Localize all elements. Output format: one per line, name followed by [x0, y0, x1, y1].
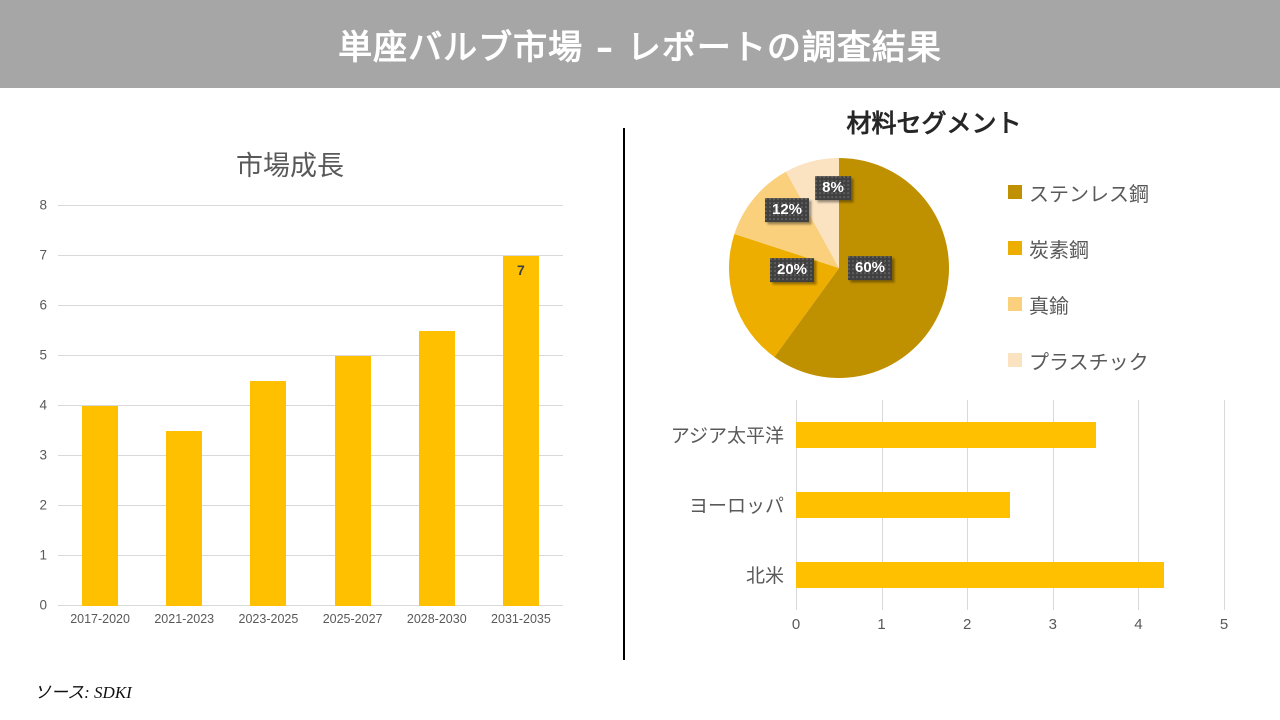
- x-axis-category-label: 2025-2027: [311, 612, 395, 626]
- region-x-axis: 012345: [796, 616, 1224, 640]
- material-segment-legend: ステンレス鋼炭素鋼真鍮プラスチック: [1008, 164, 1268, 388]
- legend-item-label: プラスチック: [1029, 346, 1149, 375]
- slide-canvas: 単座バルブ市場 – レポートの調査結果 市場成長 012345678 7 201…: [0, 0, 1280, 720]
- y-axis-tick-label: 2: [39, 498, 47, 513]
- x-axis-tick-label: 4: [1134, 616, 1142, 633]
- x-axis-tick-label: 0: [792, 616, 800, 633]
- region-category-label: アジア太平洋: [671, 421, 784, 448]
- legend-swatch-icon: [1008, 185, 1022, 199]
- page-title: 単座バルブ市場 – レポートの調査結果: [338, 20, 942, 69]
- market-growth-chart: 市場成長 012345678 7 2017-20202021-20232023-…: [0, 96, 610, 666]
- legend-item[interactable]: 真鍮: [1008, 276, 1268, 332]
- material-segment-pie: 60%20%12%8%: [729, 158, 949, 378]
- x-axis-category-label: 2017-2020: [58, 612, 142, 626]
- y-axis-tick-label: 0: [39, 598, 47, 613]
- market-growth-chart-title: 市場成長: [0, 144, 580, 183]
- legend-item[interactable]: プラスチック: [1008, 332, 1268, 388]
- x-axis-category-label: 2023-2025: [226, 612, 310, 626]
- legend-swatch-icon: [1008, 297, 1022, 311]
- legend-item-label: 炭素鋼: [1029, 234, 1089, 263]
- bar-slot[interactable]: [58, 206, 142, 606]
- bar[interactable]: [250, 381, 286, 606]
- region-bar[interactable]: [796, 422, 1096, 448]
- bar[interactable]: [335, 356, 371, 606]
- gridline: [1224, 400, 1225, 610]
- bar-slot[interactable]: [395, 206, 479, 606]
- region-bars: アジア太平洋ヨーロッパ北米: [796, 400, 1224, 610]
- x-axis-tick-label: 5: [1220, 616, 1228, 633]
- x-axis-tick-label: 1: [877, 616, 885, 633]
- pie-slice-label: 20%: [770, 258, 814, 282]
- bar[interactable]: [419, 331, 455, 606]
- x-axis-tick-label: 2: [963, 616, 971, 633]
- title-bar: 単座バルブ市場 – レポートの調査結果: [0, 0, 1280, 88]
- legend-item-label: ステンレス鋼: [1029, 178, 1149, 207]
- material-segment-title: 材料セグメント: [624, 104, 1244, 140]
- pie-slice-label: 60%: [848, 256, 892, 280]
- y-axis-tick-label: 5: [39, 348, 47, 363]
- bar-slot[interactable]: 7: [479, 206, 563, 606]
- region-plot-area: アジア太平洋ヨーロッパ北米: [796, 400, 1224, 610]
- bar[interactable]: 7: [503, 256, 539, 606]
- pie-slice-label: 8%: [815, 176, 851, 200]
- bar[interactable]: [82, 406, 118, 606]
- legend-item-label: 真鍮: [1029, 290, 1069, 319]
- legend-swatch-icon: [1008, 353, 1022, 367]
- bar-value-label: 7: [517, 262, 525, 278]
- y-axis-tick-label: 1: [39, 548, 47, 563]
- y-axis-tick-label: 8: [39, 198, 47, 213]
- market-growth-x-axis: 2017-20202021-20232023-20252025-20272028…: [58, 612, 563, 626]
- x-axis-category-label: 2031-2035: [479, 612, 563, 626]
- region-bar-row[interactable]: ヨーロッパ: [796, 470, 1224, 539]
- source-note: ソース: SDKI: [34, 678, 132, 703]
- market-growth-bars: 7: [58, 206, 563, 606]
- pie-slice-label: 12%: [765, 198, 809, 222]
- region-bar-row[interactable]: アジア太平洋: [796, 400, 1224, 469]
- region-bar[interactable]: [796, 492, 1010, 518]
- bar[interactable]: [166, 431, 202, 606]
- region-category-label: 北米: [746, 561, 784, 588]
- y-axis-tick-label: 6: [39, 298, 47, 313]
- material-segment-section: 材料セグメント 60%20%12%8% ステンレス鋼炭素鋼真鍮プラスチック: [624, 96, 1280, 396]
- y-axis-tick-label: 4: [39, 398, 47, 413]
- x-axis-tick-label: 3: [1049, 616, 1057, 633]
- bar-slot[interactable]: [226, 206, 310, 606]
- region-category-label: ヨーロッパ: [689, 491, 784, 518]
- region-chart: アジア太平洋ヨーロッパ北米 012345: [624, 392, 1280, 662]
- legend-item[interactable]: 炭素鋼: [1008, 220, 1268, 276]
- region-bar[interactable]: [796, 562, 1164, 588]
- x-axis-category-label: 2028-2030: [395, 612, 479, 626]
- bar-slot[interactable]: [142, 206, 226, 606]
- bar-slot[interactable]: [311, 206, 395, 606]
- region-bar-row[interactable]: 北米: [796, 540, 1224, 609]
- legend-swatch-icon: [1008, 241, 1022, 255]
- market-growth-plot-area: 012345678 7: [58, 206, 563, 606]
- y-axis-tick-label: 3: [39, 448, 47, 463]
- x-axis-category-label: 2021-2023: [142, 612, 226, 626]
- y-axis-tick-label: 7: [39, 248, 47, 263]
- legend-item[interactable]: ステンレス鋼: [1008, 164, 1268, 220]
